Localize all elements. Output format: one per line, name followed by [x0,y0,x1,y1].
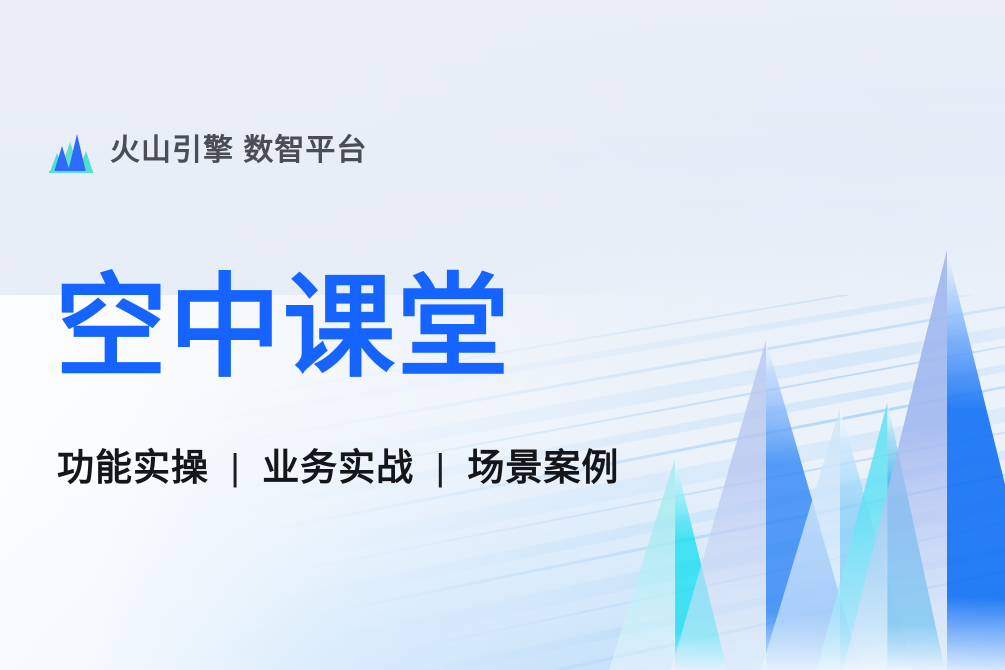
subtitle-part-2: 业务实战 [262,447,414,488]
subtitle-separator-2: | [425,447,456,488]
brand-name: 火山引擎 数智平台 [110,136,367,166]
subtitle-part-1: 功能实操 [57,447,209,488]
promo-banner: 火山引擎 数智平台 空中课堂 功能实操 | 业务实战 | 场景案例 [0,0,1005,670]
page-title: 空中课堂 [55,272,511,384]
pyramid-tall-blue [843,250,1005,670]
hero-subtitle: 功能实操 | 业务实战 | 场景案例 [57,446,619,490]
subtitle-part-3: 场景案例 [467,447,619,488]
volcano-mountain-logo-icon [46,128,96,174]
pyramid-cluster [585,110,1005,670]
subtitle-separator-1: | [220,447,251,488]
brand-lockup[interactable]: 火山引擎 数智平台 [46,128,367,174]
